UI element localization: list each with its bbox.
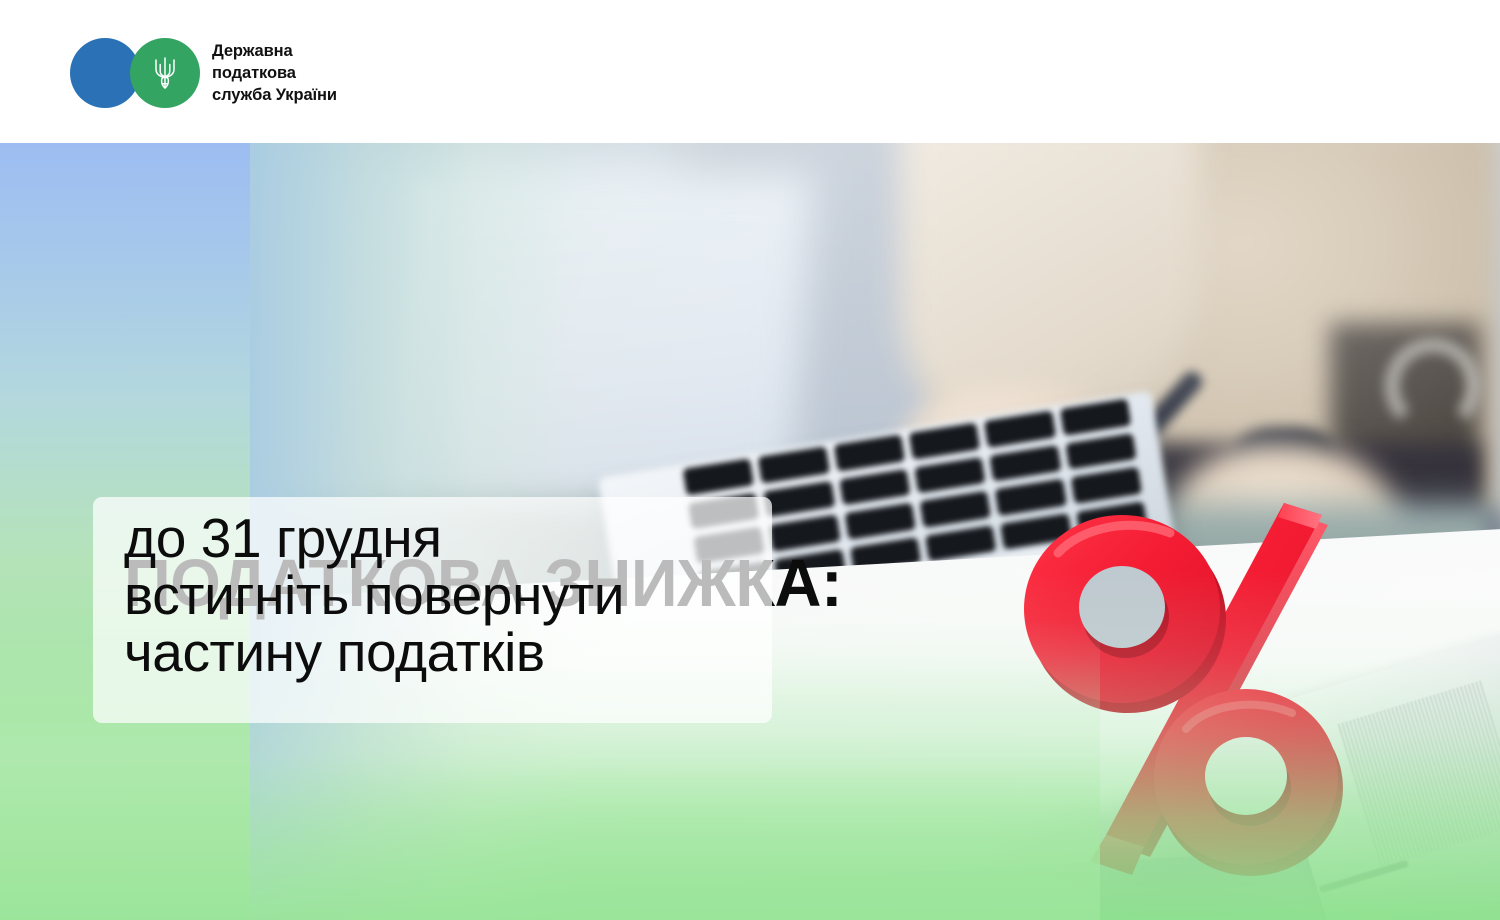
logo-wordmark-line-3: служба України [212, 84, 337, 106]
logo-wordmark-line-2: податкова [212, 62, 337, 84]
poster-canvas: Державна податкова служба України [0, 0, 1500, 920]
logo-wordmark: Державна податкова служба України [212, 40, 337, 106]
copy-block: ПОДАТКОВА ЗНИЖКА: до 31 грудня встигніть… [0, 143, 1500, 920]
logo-emblem [70, 38, 200, 108]
ukraine-trident-icon [153, 55, 177, 91]
subtext-line-1: до 31 грудня [124, 510, 624, 567]
header-bar: Державна податкова служба України [0, 0, 1500, 143]
organization-logo: Державна податкова служба України [70, 38, 337, 108]
subtext-line-3: частину податків [124, 624, 624, 681]
subtext-line-2: встигніть повернути [124, 567, 624, 624]
hero-photo: ПОДАТКОВА ЗНИЖКА: до 31 грудня встигніть… [0, 143, 1500, 920]
subtext: до 31 грудня встигніть повернути частину… [124, 510, 624, 681]
logo-wordmark-line-1: Державна [212, 40, 337, 62]
